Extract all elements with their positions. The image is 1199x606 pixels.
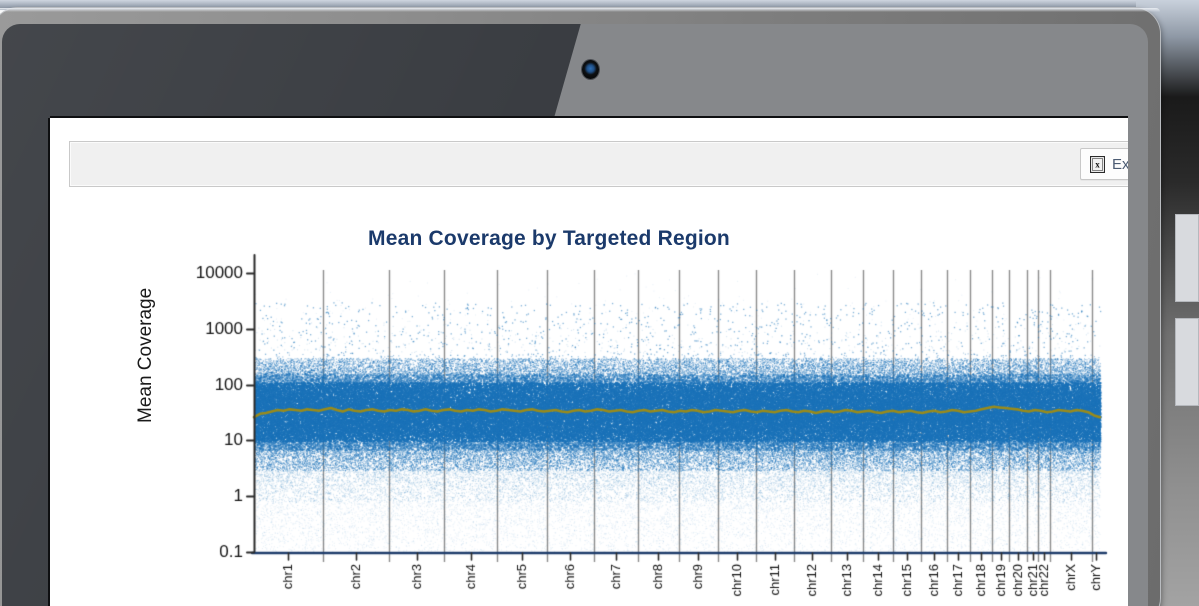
mean-coverage-scatter-plot	[69, 195, 1128, 606]
device-shell-highlight	[0, 8, 1160, 12]
screenshot-stage: x Export Mean Coverage by Targeted Regio…	[0, 0, 1199, 606]
app-viewport: x Export Mean Coverage by Targeted Regio…	[59, 125, 1128, 606]
device-shell: x Export Mean Coverage by Targeted Regio…	[0, 8, 1160, 606]
app-toolbar: x Export	[69, 141, 1128, 187]
webcam-icon	[582, 60, 599, 79]
background-panel-1	[1175, 214, 1199, 302]
background-panel-2	[1175, 318, 1199, 406]
device-screen: x Export Mean Coverage by Targeted Regio…	[50, 118, 1128, 606]
export-button[interactable]: x Export	[1080, 148, 1128, 180]
excel-file-icon: x	[1090, 156, 1105, 173]
export-button-label: Export	[1112, 156, 1128, 173]
y-axis-label: Mean Coverage	[135, 288, 157, 423]
chart-container: Mean Coverage by Targeted Region Mean Co…	[69, 195, 1128, 606]
svg-text:x: x	[1095, 159, 1100, 169]
